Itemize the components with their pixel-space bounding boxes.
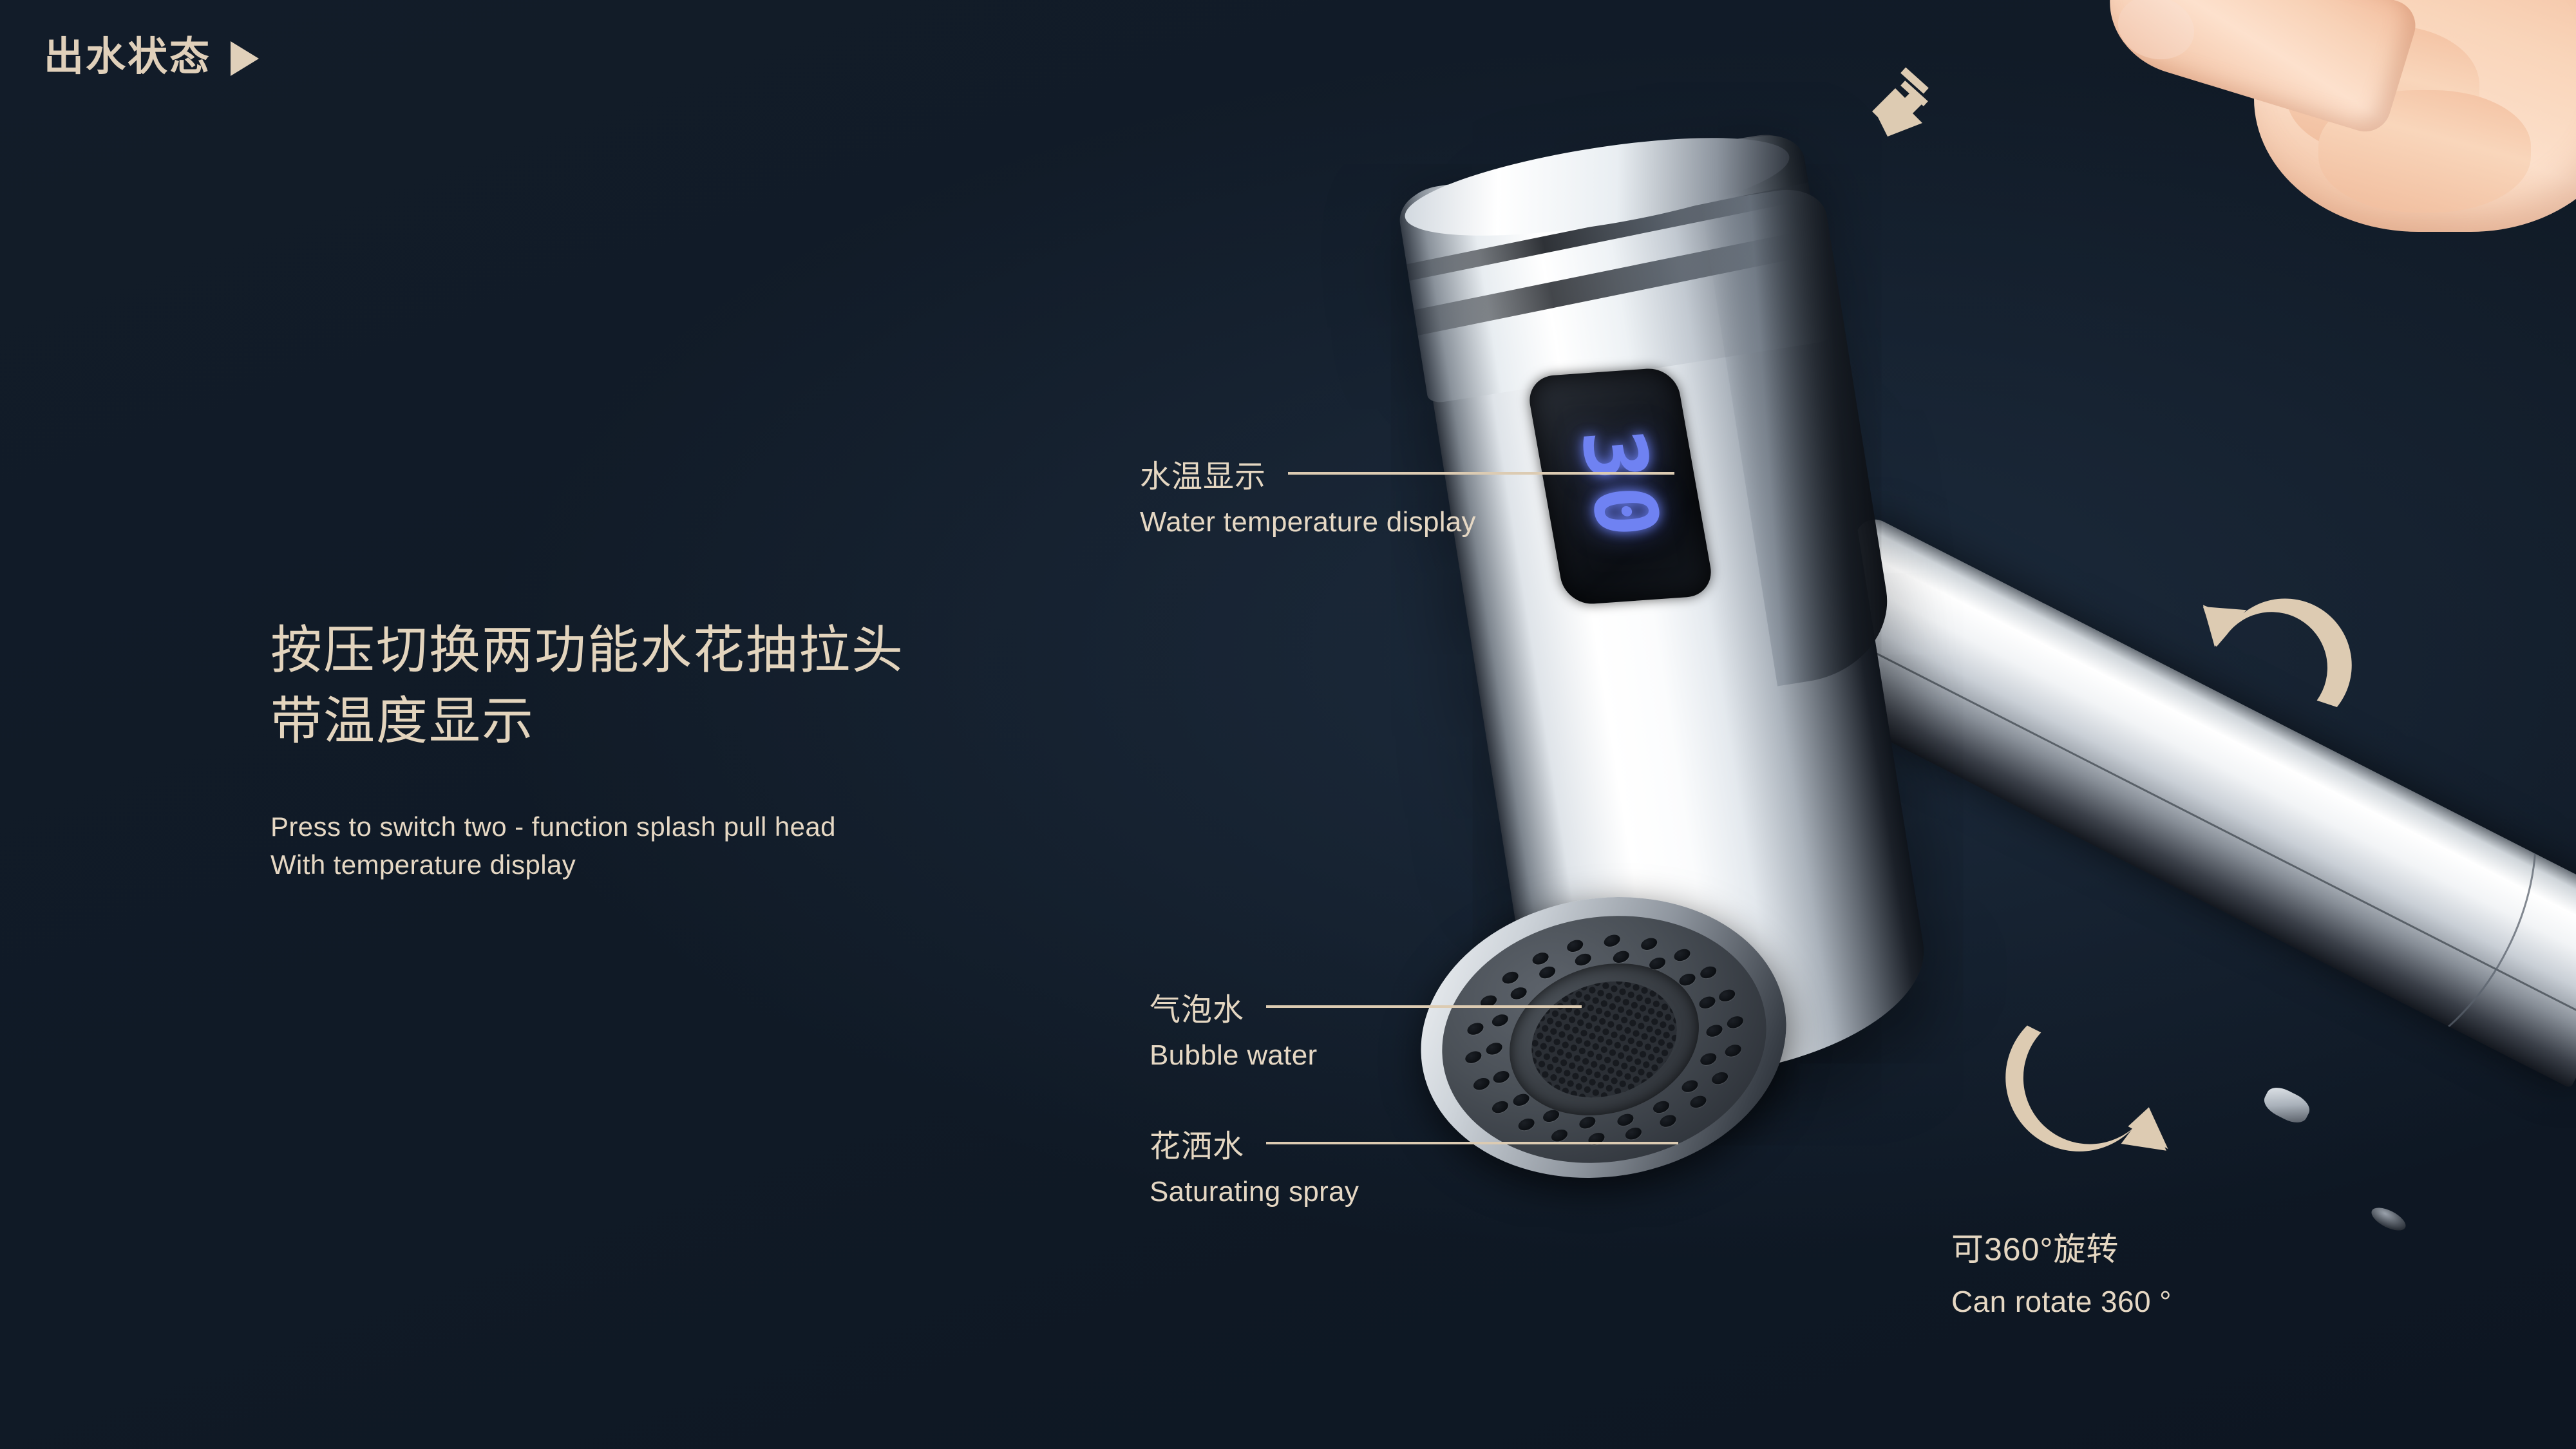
faucet-arm-button xyxy=(2260,1083,2313,1128)
spray-hole xyxy=(1573,952,1593,968)
rotate-counterclockwise-arrow-icon xyxy=(2190,573,2357,741)
spray-hole xyxy=(1639,936,1658,952)
spray-hole xyxy=(1472,1075,1492,1092)
fingernail xyxy=(2110,0,2202,68)
rotate-clockwise-arrow-icon xyxy=(2003,1005,2177,1179)
callout-leader-line xyxy=(1288,472,1674,475)
hand-palm xyxy=(2254,0,2576,232)
spray-hole xyxy=(1717,988,1736,1004)
feature-subtext-en-line1: Press to switch two - function splash pu… xyxy=(270,808,1121,846)
hand-pressing-icon xyxy=(2041,0,2576,290)
spray-hole xyxy=(1699,1051,1718,1067)
callout-water-temperature-display: 水温显示 Water temperature display xyxy=(1140,451,1674,538)
feature-headline-cn-line2: 带温度显示 xyxy=(270,686,1121,757)
press-down-arrow-icon xyxy=(1855,61,1951,158)
header: 出水状态 xyxy=(44,37,259,77)
spray-hole xyxy=(1538,965,1557,981)
callout-leader-line xyxy=(1266,1142,1678,1144)
spray-hole xyxy=(1710,1070,1730,1086)
product-feature-slide: 30 xyxy=(0,0,2576,1449)
callout-label-cn: 水温显示 xyxy=(1140,451,1266,496)
callout-label-en: Saturating spray xyxy=(1150,1176,1678,1208)
spray-hole xyxy=(1698,995,1717,1011)
callout-leader-line xyxy=(1266,1005,1582,1008)
feature-subtext-en-line2: With temperature display xyxy=(270,846,1121,884)
spray-hole xyxy=(1680,1078,1700,1094)
spray-hole xyxy=(1648,956,1667,972)
spray-hole xyxy=(1490,1099,1510,1115)
callout-rotate-360: 可360°旋转 Can rotate 360 ° xyxy=(1951,1224,2172,1319)
faucet-pull-head-body xyxy=(1400,130,1938,1102)
spray-hole xyxy=(1651,1099,1671,1115)
callout-label-cn: 花洒水 xyxy=(1150,1121,1244,1166)
spray-hole xyxy=(1699,965,1718,981)
feature-copy-block: 按压切换两功能水花抽拉头 带温度显示 Press to switch two -… xyxy=(270,615,1121,884)
spray-hole xyxy=(1566,938,1585,954)
spray-hole xyxy=(1723,1043,1743,1059)
index-finger xyxy=(2093,0,2422,138)
page-title: 出水状态 xyxy=(44,37,211,77)
faucet-spout-arm xyxy=(1779,513,2576,1088)
faucet-head-top-cap xyxy=(1399,118,1795,255)
faucet-head-collar xyxy=(1396,130,1833,404)
faucet-arm-seam xyxy=(1779,513,2576,1088)
faucet-arm-dimple xyxy=(2368,1203,2409,1235)
callout-label-en: Water temperature display xyxy=(1140,506,1674,538)
spray-hole xyxy=(1705,1023,1724,1039)
rotate-label-cn: 可360°旋转 xyxy=(1951,1224,2172,1270)
spray-hole xyxy=(1501,969,1520,985)
rotate-label-en: Can rotate 360 ° xyxy=(1951,1284,2172,1319)
spray-hole xyxy=(1672,947,1691,963)
callout-label-en: Bubble water xyxy=(1150,1039,1582,1072)
spray-hole xyxy=(1511,1092,1531,1108)
callout-saturating-spray: 花洒水 Saturating spray xyxy=(1150,1121,1678,1208)
spray-hole xyxy=(1612,949,1631,965)
spray-hole xyxy=(1725,1014,1745,1030)
spray-hole xyxy=(1688,1094,1707,1110)
callout-label-cn: 气泡水 xyxy=(1150,984,1244,1029)
callout-bubble-water: 气泡水 Bubble water xyxy=(1150,984,1582,1072)
faucet-head-dark-facet xyxy=(1701,184,1899,686)
feature-headline-cn-line1: 按压切换两功能水花抽拉头 xyxy=(270,615,1121,686)
play-triangle-icon xyxy=(231,41,259,76)
spray-hole xyxy=(1602,933,1622,949)
spray-hole xyxy=(1530,950,1549,966)
spray-hole xyxy=(1678,971,1697,987)
